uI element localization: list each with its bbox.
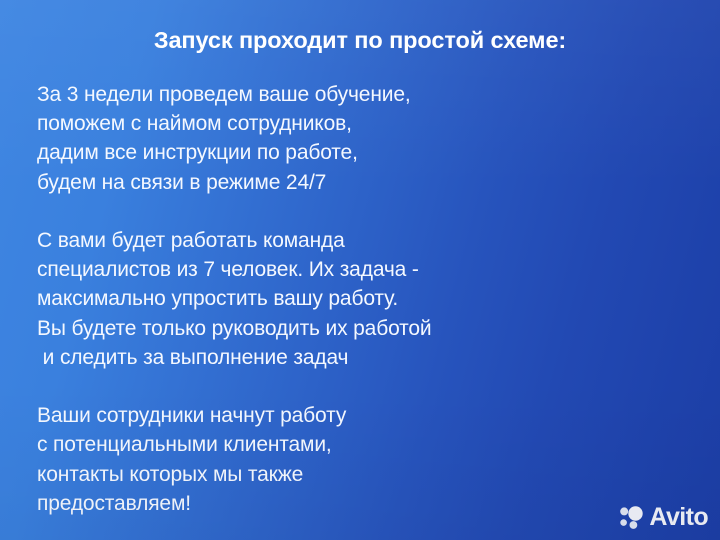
text-line: Вы будете только руководить их работой [37, 314, 597, 343]
page-title: Запуск проходит по простой схеме: [0, 26, 720, 54]
avito-dots-icon [619, 504, 645, 530]
text-line: будем на связи в режиме 24/7 [37, 168, 597, 197]
text-line: предоставляем! [37, 489, 597, 518]
paragraph-team: С вами будет работать команда специалист… [37, 226, 597, 372]
text-line: специалистов из 7 человек. Их задача - [37, 255, 597, 284]
avito-watermark: Avito [619, 504, 708, 530]
promo-slide: Запуск проходит по простой схеме: За 3 н… [0, 0, 720, 540]
avito-wordmark: Avito [649, 505, 708, 530]
text-line: поможем с наймом сотрудников, [37, 109, 597, 138]
text-line: и следить за выполнение задач [37, 343, 597, 372]
paragraph-onboarding: За 3 недели проведем ваше обучение, помо… [37, 80, 597, 197]
text-line: максимально упростить вашу работу. [37, 284, 597, 313]
text-line: Ваши сотрудники начнут работу [37, 401, 597, 430]
text-line: За 3 недели проведем ваше обучение, [37, 80, 597, 109]
text-line: С вами будет работать команда [37, 226, 597, 255]
body-text-block: За 3 недели проведем ваше обучение, помо… [37, 80, 597, 518]
text-line: с потенциальными клиентами, [37, 430, 597, 459]
paragraph-clients: Ваши сотрудники начнут работу с потенциа… [37, 401, 597, 518]
text-line: контакты которых мы также [37, 460, 597, 489]
text-line: дадим все инструкции по работе, [37, 138, 597, 167]
